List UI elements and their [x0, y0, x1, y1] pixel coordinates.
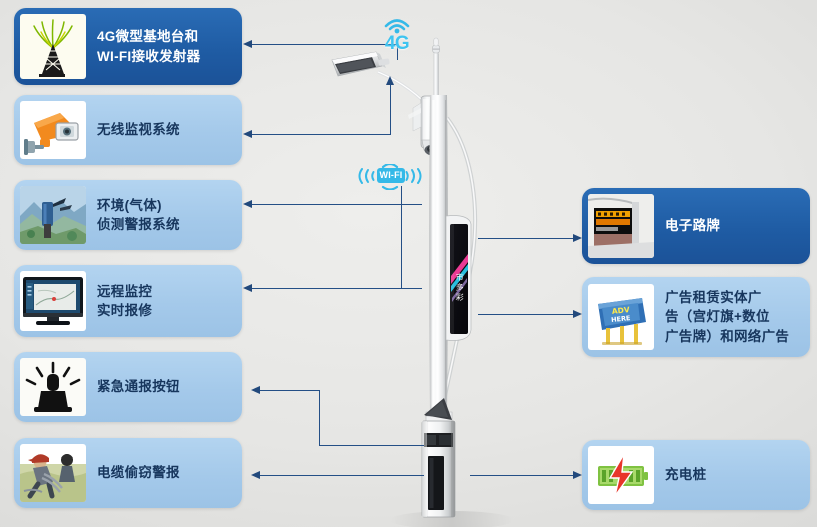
security-camera-icon: [20, 101, 86, 159]
badge-wifi-signal: WI-FI: [357, 164, 423, 190]
badge-4g-label: 4G: [378, 33, 416, 55]
card-electronic-road-sign[interactable]: 电子路牌: [582, 188, 810, 264]
card-emergency-button[interactable]: 紧急通报按钮: [14, 352, 242, 422]
billboard-icon: ADV HERE: [588, 284, 654, 350]
antenna-box: [408, 96, 445, 148]
monitor-screen-icon: [20, 271, 86, 331]
card-4g-wifi-base-station[interactable]: 4G微型基地台和 WI-FI接收发射器: [14, 8, 242, 85]
emergency-alarm-icon: [20, 358, 86, 416]
environment-sensor-icon: [20, 186, 86, 244]
svg-text:多: 多: [455, 282, 464, 293]
card-label: 4G微型基地台和 WI-FI接收发射器: [86, 27, 236, 65]
card-label: 环境(气体) 侦测警报系统: [86, 196, 236, 234]
card-label: 远程监控 实时报修: [86, 282, 236, 320]
card-charging-pile[interactable]: 充电桩: [582, 440, 810, 510]
card-label: 紧急通报按钮: [86, 377, 236, 396]
street-lamp-head: [332, 52, 390, 76]
card-remote-monitoring[interactable]: 远程监控 实时报修: [14, 265, 242, 337]
dome-camera: [422, 140, 444, 156]
card-label: 广告租赁实体广 告（宫灯旗+数位 广告牌）和网络广告: [654, 288, 804, 345]
badge-wifi-label: WI-FI: [377, 168, 405, 183]
card-advertising-leasing[interactable]: ADV HERE 广告租赁实体广 告（宫灯旗+数位 广告牌）和网络广告: [582, 277, 810, 357]
charging-base-cabinet: [422, 421, 455, 517]
cell-tower-icon: [20, 14, 86, 79]
electronic-road-sign-icon: [588, 194, 654, 258]
digital-display-screen: 市 多 彩: [446, 215, 471, 340]
svg-text:彩: 彩: [455, 292, 464, 303]
svg-text:市: 市: [455, 272, 464, 283]
card-wireless-surveillance[interactable]: 无线监视系统: [14, 95, 242, 165]
charging-pile-icon: [588, 446, 654, 504]
badge-4g-signal: 4G: [378, 14, 416, 54]
card-cable-theft-alarm[interactable]: 电缆偷窃警报: [14, 438, 242, 508]
card-environment-gas-detection[interactable]: 环境(气体) 侦测警报系统: [14, 180, 242, 250]
card-label: 电缆偷窃警报: [86, 463, 236, 482]
cable-theft-icon: [20, 444, 86, 502]
card-label: 充电桩: [654, 465, 804, 484]
card-label: 电子路牌: [654, 216, 804, 235]
card-label: 无线监视系统: [86, 120, 236, 139]
antenna-rod: [433, 38, 440, 100]
